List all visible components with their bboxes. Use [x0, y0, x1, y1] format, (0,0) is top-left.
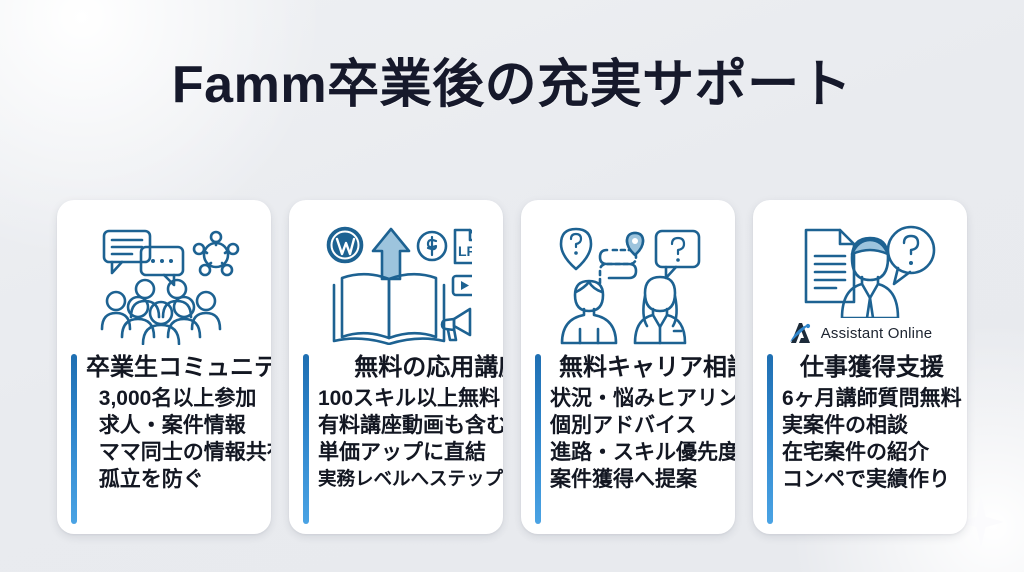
- card-bullets: 3,000名以上参加 求人・案件情報 ママ同士の情報共有 孤立を防ぐ: [99, 386, 271, 494]
- assistant-online-logo-mark: [788, 320, 814, 346]
- card-text-block: 仕事獲得支援 6ヶ月講師質問無料 実案件の相談 在宅案件の紹介 コンペで実績作り: [761, 354, 959, 524]
- card-title: 無料キャリア相談: [559, 354, 735, 382]
- card-line: 有料講座動画も含む: [318, 413, 503, 440]
- document-advisor-icon: Assistant Online: [761, 214, 959, 354]
- card-line: 個別アドバイス: [550, 413, 696, 440]
- card-line: 3,000名以上参加: [99, 386, 257, 413]
- card-text-block: 無料キャリア相談 状況・悩みヒアリング 個別アドバイス 進路・スキル優先度 案件…: [529, 354, 727, 524]
- community-discussion-icon: [65, 214, 263, 354]
- assistant-online-logo: Assistant Online: [788, 320, 933, 346]
- card-line: 状況・悩みヒアリング: [550, 386, 735, 413]
- assistant-online-logo-text: Assistant Online: [821, 325, 933, 342]
- page-title: Famm卒業後の充実サポート: [0, 42, 1024, 117]
- svg-text:LP: LP: [458, 243, 472, 259]
- card-bullets: 100スキル以上無料 有料講座動画も含む 単価アップに直結 実務レベルへステップ…: [318, 386, 503, 490]
- card-job-acquisition-support[interactable]: Assistant Online 仕事獲得支援 6ヶ月講師質問無料 実案件の相談…: [753, 200, 967, 534]
- card-line: 実務レベルへステップアップ: [318, 467, 503, 491]
- accent-bar: [71, 354, 77, 524]
- card-line: コンペで実績作り: [782, 467, 950, 494]
- card-bullets: 状況・悩みヒアリング 個別アドバイス 進路・スキル優先度 案件獲得へ提案: [550, 386, 735, 494]
- card-bullets: 6ヶ月講師質問無料 実案件の相談 在宅案件の紹介 コンペで実績作り: [782, 386, 962, 494]
- card-text-block: 卒業生コミュニティ 3,000名以上参加 求人・案件情報 ママ同士の情報共有 孤…: [65, 354, 263, 524]
- card-line: 100スキル以上無料: [318, 386, 500, 413]
- card-line: 実案件の相談: [782, 413, 908, 440]
- card-line: 孤立を防ぐ: [99, 467, 204, 494]
- accent-bar: [303, 354, 309, 524]
- open-book-skills-icon: LP: [297, 214, 495, 354]
- card-line: ママ同士の情報共有: [99, 440, 271, 467]
- card-line: 6ヶ月講師質問無料: [782, 386, 962, 413]
- card-line: 求人・案件情報: [99, 413, 246, 440]
- card-title: 卒業生コミュニティ: [86, 354, 271, 382]
- card-line: 単価アップに直結: [318, 440, 486, 467]
- card-line: 在宅案件の紹介: [782, 440, 929, 467]
- card-grid: 卒業生コミュニティ 3,000名以上参加 求人・案件情報 ママ同士の情報共有 孤…: [57, 200, 967, 534]
- accent-bar: [535, 354, 541, 524]
- card-free-advanced-courses[interactable]: LP: [289, 200, 503, 534]
- accent-bar: [767, 354, 773, 524]
- career-consultation-icon: [529, 214, 727, 354]
- card-free-career-consultation[interactable]: 無料キャリア相談 状況・悩みヒアリング 個別アドバイス 進路・スキル優先度 案件…: [521, 200, 735, 534]
- card-title: 仕事獲得支援: [800, 354, 944, 382]
- card-alumni-community[interactable]: 卒業生コミュニティ 3,000名以上参加 求人・案件情報 ママ同士の情報共有 孤…: [57, 200, 271, 534]
- card-text-block: 無料の応用講座 100スキル以上無料 有料講座動画も含む 単価アップに直結 実務…: [297, 354, 495, 524]
- card-line: 案件獲得へ提案: [550, 467, 697, 494]
- card-title: 無料の応用講座: [354, 354, 503, 382]
- card-line: 進路・スキル優先度: [550, 440, 735, 467]
